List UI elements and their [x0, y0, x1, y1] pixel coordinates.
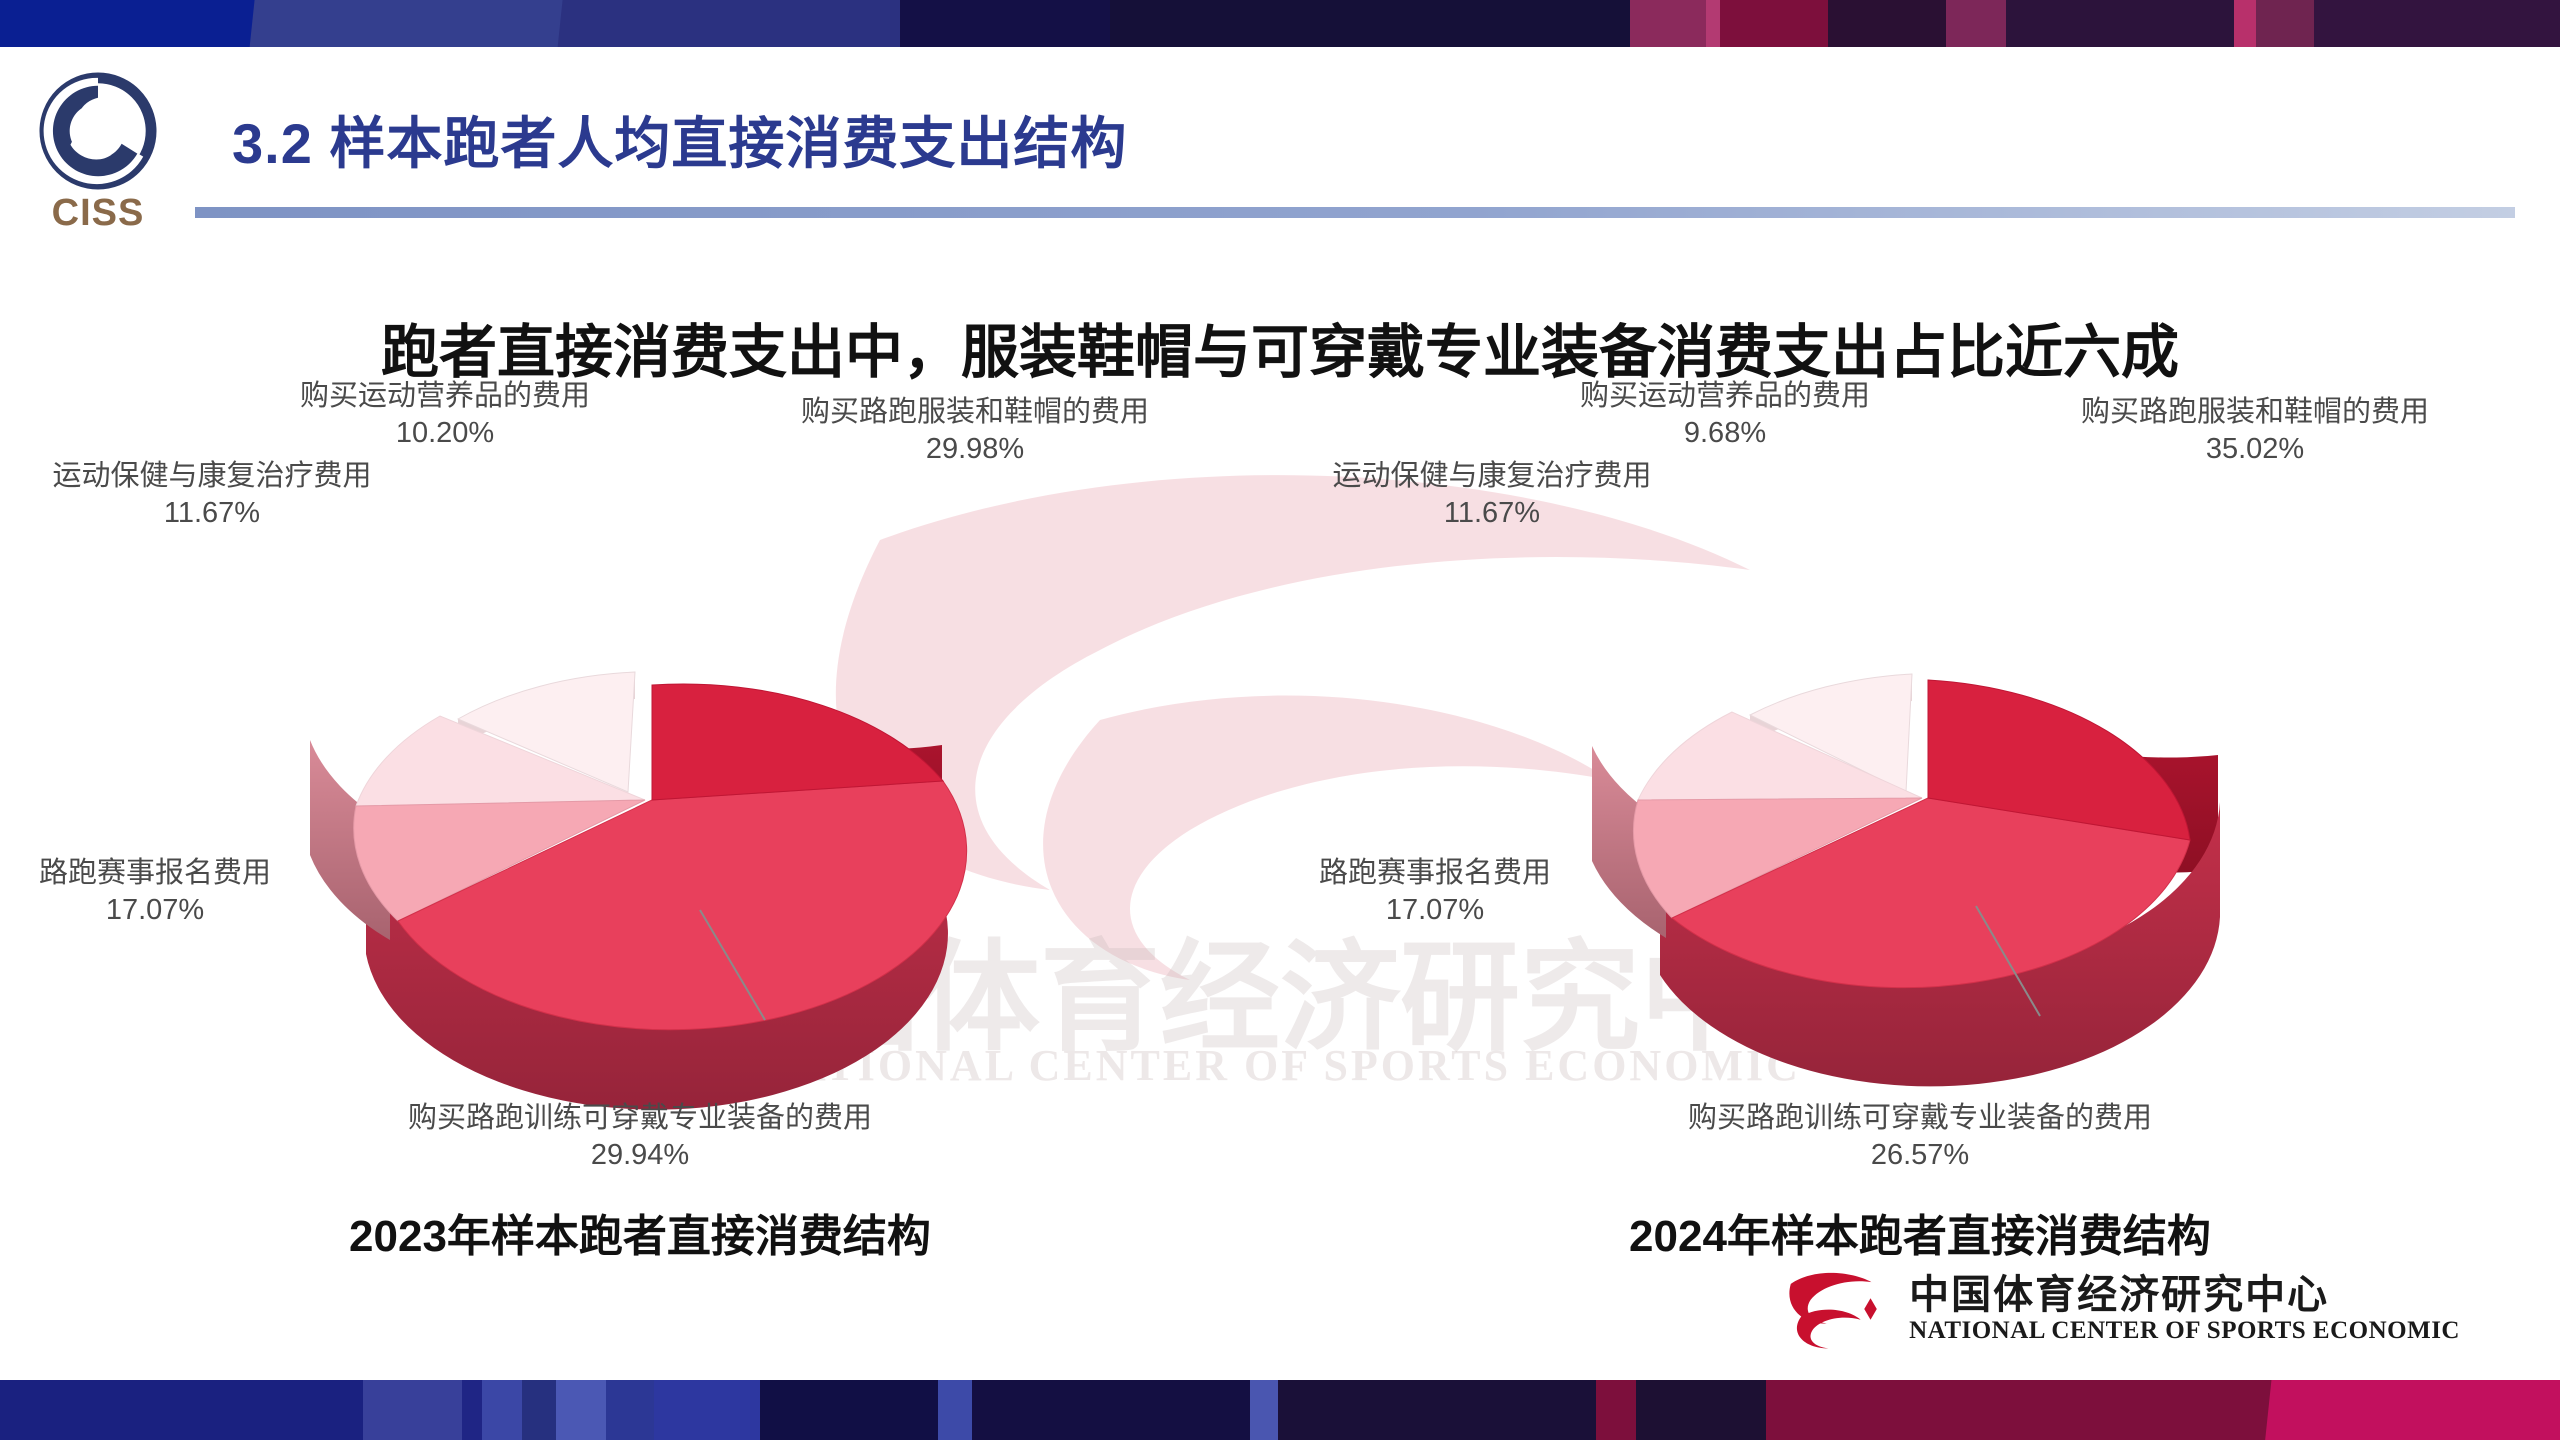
bottom-decoration-band [0, 1380, 2560, 1440]
pie-chart-2023: 购买运动营养品的费用 10.20% 运动保健与康复治疗费用 11.67% 路跑赛… [0, 400, 1280, 1300]
band-segment [363, 1380, 463, 1440]
band-segment [1720, 0, 1830, 47]
band-segment [1766, 1380, 2276, 1440]
band-segment [606, 1380, 656, 1440]
pie-label-wearable: 购买路跑训练可穿戴专业装备的费用 29.94% [310, 1100, 970, 1174]
slide-header: CISS 3.2 样本跑者人均直接消费支出结构 [0, 47, 2560, 247]
pie-label-apparel: 购买路跑服装和鞋帽的费用 35.02% [2040, 394, 2470, 468]
ciss-emblem-icon [39, 72, 157, 190]
band-segment [0, 0, 270, 47]
band-segment [2264, 1380, 2560, 1440]
headline-statement: 跑者直接消费支出中，服装鞋帽与可穿戴专业装备消费支出占比近六成 [0, 305, 2560, 389]
chart-caption-2024: 2024年样本跑者直接消费结构 [1280, 1200, 2560, 1264]
ciss-logo: CISS [28, 72, 168, 235]
footer-brand-text: 中国体育经济研究中心 NATIONAL CENTER OF SPORTS ECO… [1909, 1273, 2460, 1346]
band-segment [654, 1380, 762, 1440]
band-segment [1110, 0, 1640, 47]
band-segment [482, 1380, 524, 1440]
pie-label-wearable: 购买路跑训练可穿戴专业装备的费用 26.57% [1590, 1100, 2250, 1174]
footer-brand-cn: 中国体育经济研究中心 [1909, 1273, 2460, 1318]
pie-label-health: 运动保健与康复治疗费用 11.67% [1292, 458, 1692, 532]
band-segment [556, 1380, 608, 1440]
footer-brand-en: NATIONAL CENTER OF SPORTS ECONOMIC [1909, 1317, 2460, 1345]
pie-chart-2024: 购买运动营养品的费用 9.68% 运动保健与康复治疗费用 11.67% 路跑赛事… [1280, 400, 2560, 1300]
pie-label-apparel: 购买路跑服装和鞋帽的费用 29.98% [760, 394, 1190, 468]
pie-label-registration: 路跑赛事报名费用 17.07% [1290, 855, 1580, 929]
band-segment [1596, 1380, 1638, 1440]
band-segment [1828, 0, 1948, 47]
page-title: 3.2 样本跑者人均直接消费支出结构 [232, 99, 1127, 180]
band-segment [557, 0, 923, 47]
pie-2023-graphic [140, 440, 1140, 1160]
sports-flame-icon [1777, 1266, 1887, 1352]
band-segment [249, 0, 595, 47]
band-segment [1630, 0, 1710, 47]
band-segment [0, 1380, 365, 1440]
charts-area: 购买运动营养品的费用 10.20% 运动保健与康复治疗费用 11.67% 路跑赛… [0, 400, 2560, 1300]
band-segment [2006, 0, 2236, 47]
band-segment [522, 1380, 558, 1440]
band-segment [462, 1380, 484, 1440]
band-segment [900, 0, 1120, 47]
band-segment [1636, 1380, 1768, 1440]
band-segment [972, 1380, 1252, 1440]
footer-brand-logo: 中国体育经济研究中心 NATIONAL CENTER OF SPORTS ECO… [1777, 1266, 2460, 1352]
band-segment [2314, 0, 2560, 47]
pie-slice-apparel[interactable] [652, 684, 943, 800]
band-segment [938, 1380, 974, 1440]
title-divider [195, 207, 2515, 218]
band-segment [2256, 0, 2316, 47]
ciss-wordmark: CISS [28, 192, 168, 235]
pie-2024-graphic [1420, 440, 2420, 1160]
top-decoration-band [0, 0, 2560, 47]
chart-caption-2023: 2023年样本跑者直接消费结构 [0, 1200, 1280, 1264]
pie-label-nutrition: 购买运动营养品的费用 10.20% [255, 378, 635, 452]
pie-label-health: 运动保健与康复治疗费用 11.67% [12, 458, 412, 532]
band-segment [760, 1380, 940, 1440]
band-segment [1278, 1380, 1598, 1440]
pie-label-nutrition: 购买运动营养品的费用 9.68% [1535, 378, 1915, 452]
band-segment [1946, 0, 2008, 47]
band-segment [1250, 1380, 1280, 1440]
band-segment [2234, 0, 2258, 47]
pie-label-registration: 路跑赛事报名费用 17.07% [10, 855, 300, 929]
